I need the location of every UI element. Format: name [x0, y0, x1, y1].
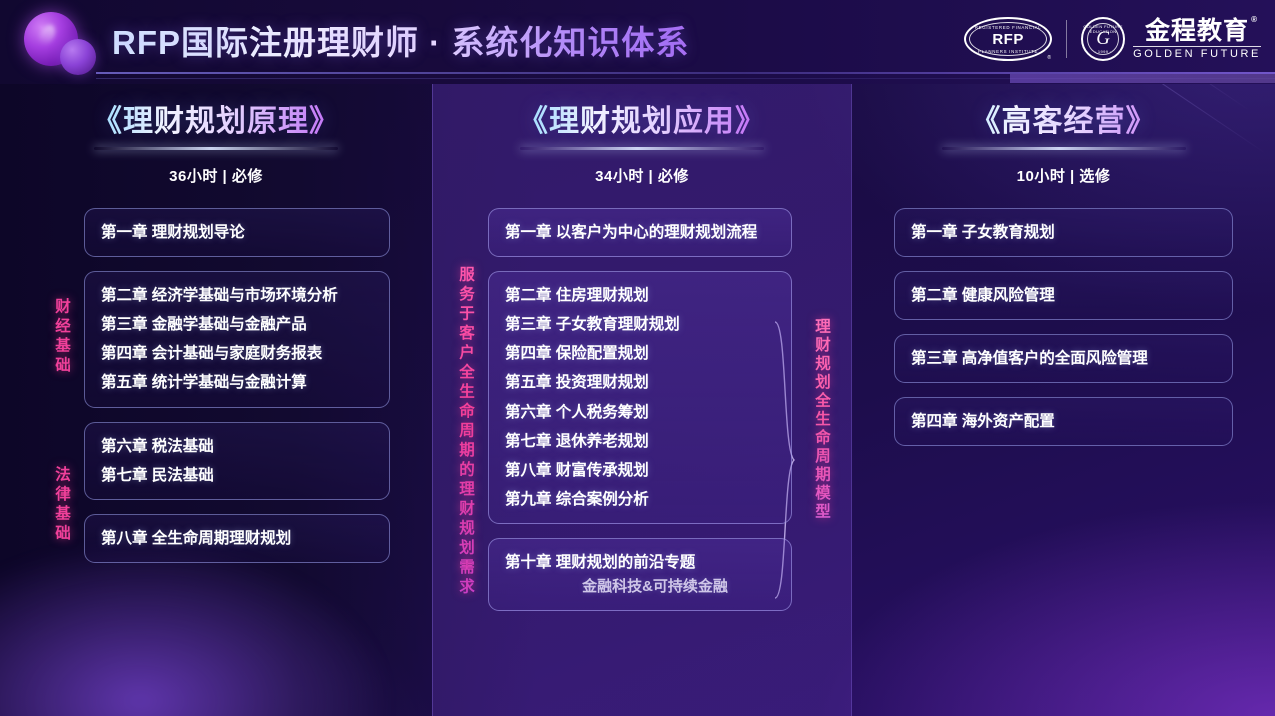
rfp-ring-top-text: REGISTERED FINANCIAL [966, 25, 1050, 30]
chapter-item: 第六章 个人税务筹划 [505, 400, 775, 425]
chapter-item: 第四章 保险配置规划 [505, 341, 775, 366]
chapter-item: 第五章 投资理财规划 [505, 370, 775, 395]
course-column-principles: 《理财规划原理》 36小时 | 必修 财经基础 法律基础 第一章 理财规划导论 … [0, 84, 432, 716]
chapter-groups: 财经基础 法律基础 第一章 理财规划导论 第二章 经济学基础与市场环境分析 第三… [0, 208, 432, 563]
chapter-item: 第二章 经济学基础与市场环境分析 [101, 283, 373, 308]
chapter-item: 第二章 健康风险管理 [911, 283, 1216, 308]
column-header: 《高客经营》 10小时 | 选修 [852, 84, 1275, 186]
orb-logo-icon [18, 6, 104, 82]
course-column-hnw: 《高客经营》 10小时 | 选修 第一章 子女教育规划 第二章 健康风险管理 第… [852, 84, 1275, 716]
golden-future-logo: GOLDEN FUTURE EDUCATION G · 1999 · 金程教育 … [1081, 17, 1261, 61]
chapter-box[interactable]: 第一章 子女教育规划 [894, 208, 1233, 257]
column-meta: 10小时 | 选修 [852, 165, 1275, 186]
chapter-item: 第七章 退休养老规划 [505, 429, 775, 454]
chapter-subtitle: 金融科技&可持续金融 [505, 575, 775, 599]
header-bar: RFP国际注册理财师 · 系统化知识体系 REGISTERED FINANCIA… [0, 0, 1275, 84]
gf-name-en: GOLDEN FUTURE [1133, 46, 1261, 60]
side-label-lifecycle-needs: 服务于客户全生命周期的理财规划需求 [454, 266, 476, 598]
chapter-box[interactable]: 第一章 以客户为中心的理财规划流程 [488, 208, 792, 257]
chapter-item: 第七章 民法基础 [101, 463, 373, 488]
chapter-item: 第四章 海外资产配置 [911, 409, 1216, 434]
gf-ring-bottom-text: · 1999 · [1083, 49, 1123, 54]
gf-name-cn-text: 金程教育 [1145, 17, 1249, 45]
orb-small-icon [60, 39, 96, 75]
chapter-item: 第六章 税法基础 [101, 434, 373, 459]
chapter-item: 第四章 会计基础与家庭财务报表 [101, 341, 373, 366]
chapter-groups: 服务于客户全生命周期的理财规划需求 理财规划全生命周期模型 第一章 以客户为中心… [432, 208, 852, 611]
rfp-acronym: RFP [992, 31, 1024, 48]
rfp-seal-logo: REGISTERED FINANCIAL RFP PLANNERS INSTIT… [964, 17, 1052, 61]
column-title-divider [520, 147, 764, 150]
column-title: 《理财规划原理》 [0, 104, 432, 140]
chapter-box[interactable]: 第六章 税法基础 第七章 民法基础 [84, 422, 390, 500]
side-label-lifecycle-model: 理财规划全生命周期模型 [810, 318, 832, 522]
side-label-finance-basics: 财经基础 [50, 298, 72, 376]
logo-separator [1066, 20, 1067, 58]
chapter-item: 第三章 金融学基础与金融产品 [101, 312, 373, 337]
chapter-item: 第一章 理财规划导论 [101, 220, 373, 245]
chapter-groups: 第一章 子女教育规划 第二章 健康风险管理 第三章 高净值客户的全面风险管理 第… [852, 208, 1275, 446]
chapter-item: 第五章 统计学基础与金融计算 [101, 370, 373, 395]
chapter-item: 第三章 子女教育理财规划 [505, 312, 775, 337]
golden-future-wordmark: 金程教育 ® GOLDEN FUTURE [1133, 18, 1261, 60]
rfp-ring-bottom-text: PLANNERS INSTITUTE [966, 49, 1050, 54]
column-title-divider [942, 147, 1186, 150]
column-title: 《理财规划应用》 [432, 104, 852, 140]
chapter-box[interactable]: 第二章 住房理财规划 第三章 子女教育理财规划 第四章 保险配置规划 第五章 投… [488, 271, 792, 524]
column-header: 《理财规划应用》 34小时 | 必修 [432, 84, 852, 186]
chapter-item: 第十章 理财规划的前沿专题 [505, 550, 775, 575]
logo-group: REGISTERED FINANCIAL RFP PLANNERS INSTIT… [964, 17, 1261, 61]
gf-registered-mark: ® [1251, 16, 1258, 24]
chapter-item: 第一章 子女教育规划 [911, 220, 1216, 245]
chapter-box[interactable]: 第二章 经济学基础与市场环境分析 第三章 金融学基础与金融产品 第四章 会计基础… [84, 271, 390, 407]
column-title-divider [94, 147, 338, 150]
chapter-box[interactable]: 第十章 理财规划的前沿专题 金融科技&可持续金融 [488, 538, 792, 611]
column-meta: 34小时 | 必修 [432, 165, 852, 186]
chapter-item: 第一章 以客户为中心的理财规划流程 [505, 220, 775, 245]
column-meta: 36小时 | 必修 [0, 165, 432, 186]
course-column-application: 《理财规划应用》 34小时 | 必修 服务于客户全生命周期的理财规划需求 理财规… [432, 84, 852, 716]
page-title: RFP国际注册理财师 · 系统化知识体系 [112, 16, 689, 64]
chapter-item: 第二章 住房理财规划 [505, 283, 775, 308]
course-columns: 《理财规划原理》 36小时 | 必修 财经基础 法律基础 第一章 理财规划导论 … [0, 84, 1275, 716]
chapter-box[interactable]: 第三章 高净值客户的全面风险管理 [894, 334, 1233, 383]
chapter-item: 第九章 综合案例分析 [505, 487, 775, 512]
header-divider-accent [1010, 74, 1275, 83]
chapter-item: 第八章 全生命周期理财规划 [101, 526, 373, 551]
side-label-law-basics: 法律基础 [50, 466, 72, 544]
golden-future-emblem-icon: GOLDEN FUTURE EDUCATION G · 1999 · [1081, 17, 1125, 61]
chapter-item: 第八章 财富传承规划 [505, 458, 775, 483]
chapter-box[interactable]: 第四章 海外资产配置 [894, 397, 1233, 446]
chapter-item: 第三章 高净值客户的全面风险管理 [911, 346, 1216, 371]
rfp-registered-mark: ® [1047, 55, 1051, 61]
column-header: 《理财规划原理》 36小时 | 必修 [0, 84, 432, 186]
column-title: 《高客经营》 [852, 104, 1275, 140]
chapter-box[interactable]: 第八章 全生命周期理财规划 [84, 514, 390, 563]
gf-monogram: G [1096, 28, 1110, 50]
chapter-box[interactable]: 第一章 理财规划导论 [84, 208, 390, 257]
gf-name-cn: 金程教育 ® [1145, 18, 1249, 44]
chapter-box[interactable]: 第二章 健康风险管理 [894, 271, 1233, 320]
